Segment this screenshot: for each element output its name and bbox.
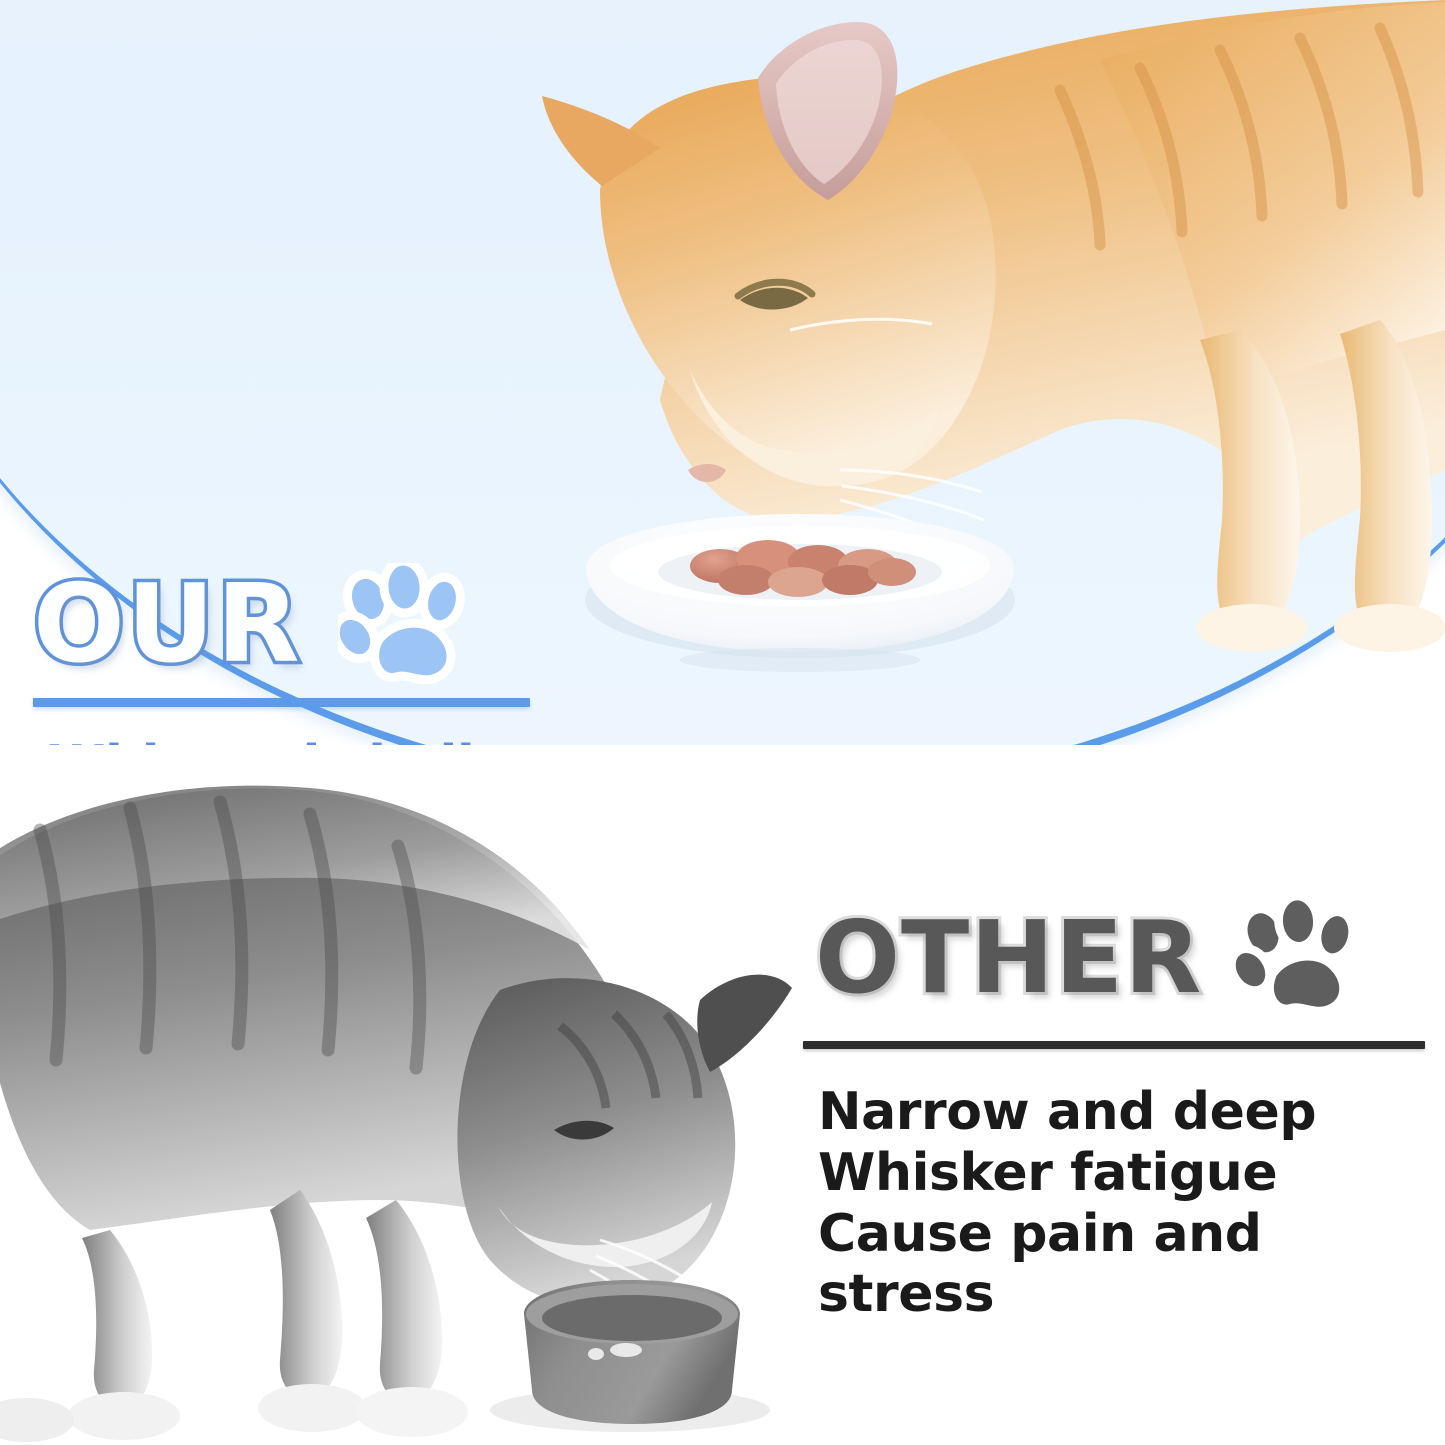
- our-heading-row: OUR: [33, 560, 553, 690]
- dish-base-shadow: [680, 648, 920, 672]
- cat-mid-paw: [356, 1387, 468, 1437]
- other-body-line: Narrow and deep: [818, 1082, 1418, 1143]
- other-heading-row: OTHER: [815, 895, 1415, 1020]
- cat-rear-leg: [82, 1230, 152, 1408]
- cat-ear: [697, 975, 792, 1072]
- cat-front-paw: [258, 1384, 366, 1432]
- cat-far-paw: [0, 1398, 74, 1442]
- other-photo-grey-cat: [0, 760, 820, 1445]
- bowl-interior: [542, 1295, 722, 1341]
- other-body-text: Narrow and deep Whisker fatigue Cause pa…: [818, 1082, 1418, 1325]
- cat-mid-leg: [366, 1200, 442, 1403]
- comparison-infographic: OUR Wide and shallow fatigue of the Prev…: [0, 0, 1445, 1445]
- other-body-line: stress: [818, 1264, 1418, 1325]
- bowl-highlight-dot: [588, 1348, 604, 1360]
- paw-print-icon: [1234, 897, 1362, 1019]
- cat-front-paw: [1196, 604, 1308, 652]
- cat-rear-paw: [68, 1392, 180, 1440]
- other-divider: [803, 1041, 1425, 1049]
- paw-print-icon: [338, 563, 470, 687]
- our-photo-orange-cat: [540, 0, 1445, 700]
- cat-back-paw: [1334, 604, 1445, 652]
- bowl-highlight-streak: [610, 1343, 642, 1357]
- other-body-line: Whisker fatigue: [818, 1143, 1418, 1204]
- other-heading: OTHER: [815, 908, 1202, 1008]
- other-body-line: Cause pain and: [818, 1204, 1418, 1265]
- our-divider: [33, 698, 530, 707]
- cat-front-leg: [270, 1190, 342, 1399]
- our-heading: OUR: [33, 571, 302, 679]
